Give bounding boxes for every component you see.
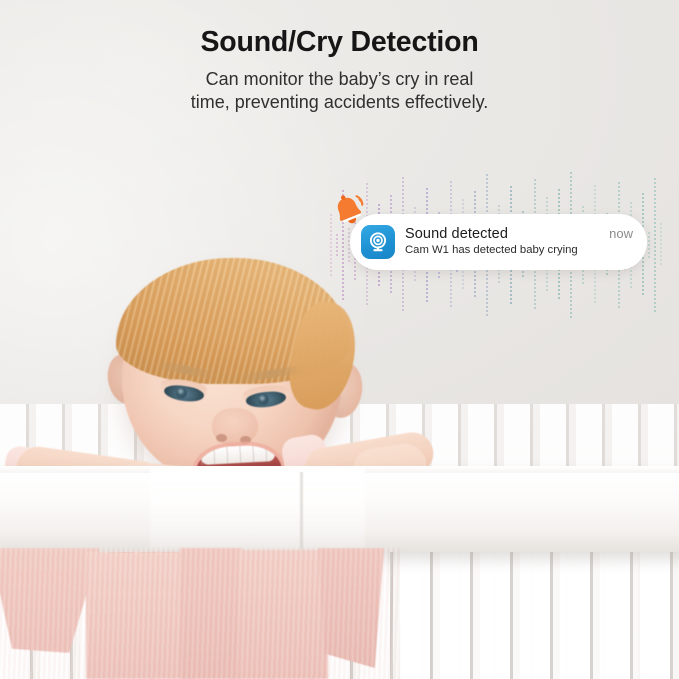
subtitle-line-2: time, preventing accidents effectively. xyxy=(191,92,488,112)
page-title: Sound/Cry Detection xyxy=(0,26,679,60)
blanket-texture xyxy=(0,548,400,679)
pink-blanket xyxy=(0,548,400,679)
crib-rail-highlight xyxy=(150,468,365,550)
notification-subtitle: Cam W1 has detected baby crying xyxy=(405,245,603,257)
header: Sound/Cry Detection Can monitor the baby… xyxy=(0,26,679,115)
notification-text-block: Sound detected Cam W1 has detected baby … xyxy=(395,227,603,257)
subtitle-line-1: Can monitor the baby’s cry in real xyxy=(206,69,474,89)
promo-image: Sound detected Cam W1 has detected baby … xyxy=(0,0,679,679)
crib-rail-groove xyxy=(300,472,303,550)
notification-timestamp: now xyxy=(603,226,633,241)
notification-card[interactable]: Sound detected Cam W1 has detected baby … xyxy=(350,214,647,270)
webcam-icon xyxy=(361,225,395,259)
notification-title: Sound detected xyxy=(405,227,603,242)
page-subtitle: Can monitor the baby’s cry in real time,… xyxy=(140,68,540,116)
